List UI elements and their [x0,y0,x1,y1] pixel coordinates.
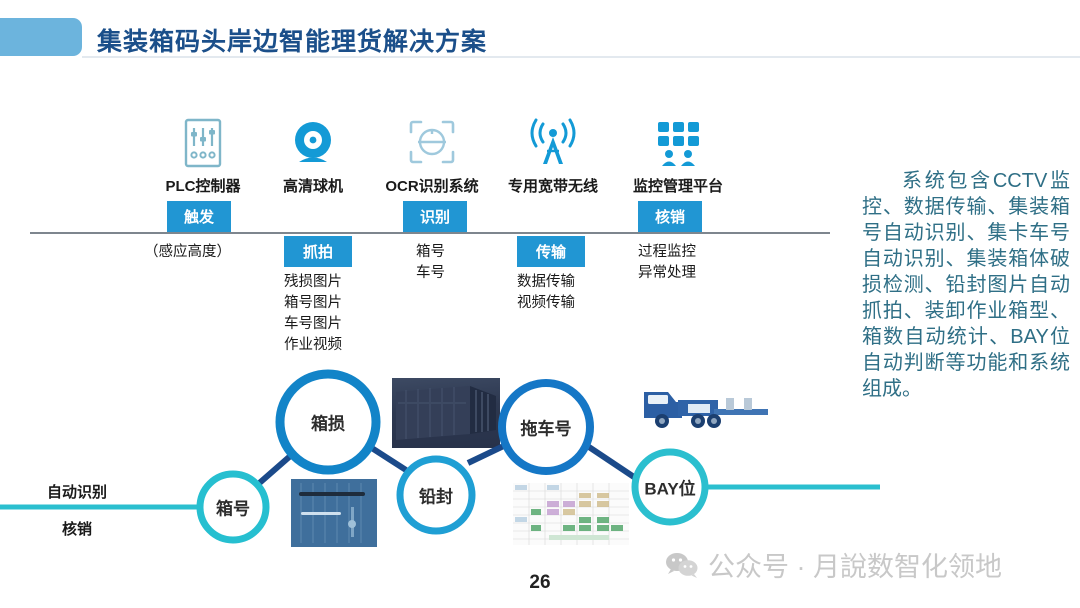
detail-transmit: 数据传输 视频传输 [517,272,575,314]
flow-entry-label-verify: 核销 [62,518,92,539]
detail-line: 残损图片 [284,272,342,293]
page-title: 集装箱码头岸边智能理货解决方案 [97,22,487,58]
detail-line: 视频传输 [517,293,575,314]
flow-node-label-xiangsun: 箱损 [311,410,345,435]
flow-node-label-tuochehao: 拖车号 [521,415,572,440]
detail-trigger: （感应高度） [144,242,231,263]
plc-controller-icon [143,108,263,168]
timeline-rule [30,232,830,234]
slide-canvas: 集装箱码头岸边智能理货解决方案 PLC控制器 [0,0,1080,608]
detail-capture: 残损图片 箱号图片 车号图片 作业视频 [284,272,342,356]
device-col-platform: 监控管理平台 [613,108,743,196]
detail-line: 异常处理 [638,263,696,284]
device-col-ocr: OCR识别系统 [372,108,492,196]
detail-line: 箱号图片 [284,293,342,314]
wireless-tower-icon [493,108,613,168]
device-label: 高清球机 [253,175,373,196]
badge-transmit: 传输 [517,236,585,267]
header-tab-accent [0,18,82,56]
detail-line: 作业视频 [284,335,342,356]
flow-node-label-xianghao: 箱号 [216,495,250,520]
detail-line: 车号图片 [284,314,342,335]
flow-node-label-bay: BAY位 [644,475,695,500]
device-label: 监控管理平台 [613,175,743,196]
detail-verify: 过程监控 异常处理 [638,242,696,284]
badge-recognize: 识别 [403,201,467,232]
dome-camera-icon [253,108,373,168]
device-label: OCR识别系统 [372,175,492,196]
page-number: 26 [0,572,1080,594]
badge-verify: 核销 [638,201,702,232]
flow-node-label-qianfeng: 铅封 [419,483,453,508]
device-col-wireless: 专用宽带无线 [493,108,613,196]
detail-line: 箱号 [416,242,445,263]
badge-capture: 抓拍 [284,236,352,267]
device-col-plc: PLC控制器 [143,108,263,196]
flow-entry-label-auto-id: 自动识别 [47,481,107,502]
detail-line: 数据传输 [517,272,575,293]
ocr-scan-icon [372,108,492,168]
detail-recognize: 箱号 车号 [416,242,445,284]
flow-diagram [0,355,1080,555]
monitor-platform-icon [613,108,743,168]
device-col-camera: 高清球机 [253,108,373,196]
detail-line: 过程监控 [638,242,696,263]
device-label: PLC控制器 [143,175,263,196]
badge-trigger: 触发 [167,201,231,232]
device-label: 专用宽带无线 [493,175,613,196]
detail-line: 车号 [416,263,445,284]
